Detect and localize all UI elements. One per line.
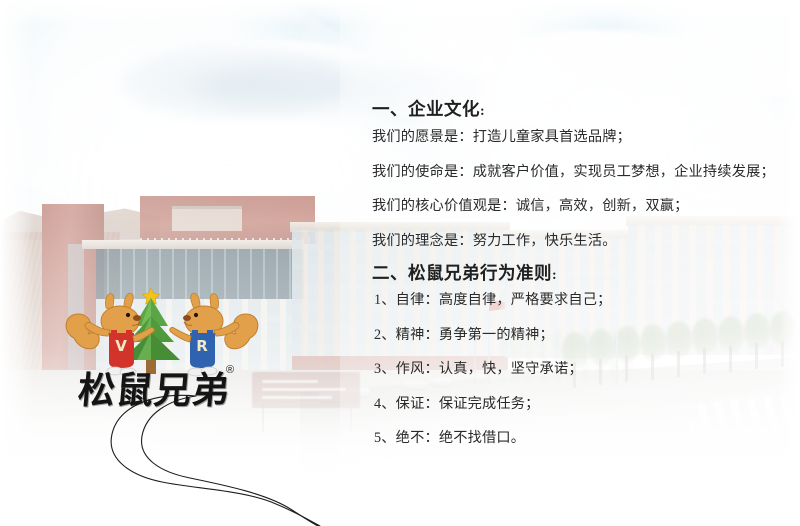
- tree-icon: [718, 316, 744, 372]
- tree-icon: [770, 311, 796, 367]
- street-light-pole-icon: [616, 300, 618, 382]
- section-2-heading-text: 二、松鼠兄弟行为准则: [372, 263, 552, 283]
- section-1-heading-text: 一、企业文化: [372, 99, 480, 119]
- tree-icon: [744, 313, 770, 369]
- brand-wordmark-text: 松鼠兄弟: [76, 370, 232, 414]
- section-2-heading: 二、松鼠兄弟行为准则:: [372, 260, 557, 285]
- section-2-line: 4、保证：保证完成任务；: [374, 393, 612, 413]
- section-1-line: 我们的使命是：成就客户价值，实现员工梦想，企业持续发展；: [372, 161, 775, 181]
- section-1-line: 我们的理念是：努力工作，快乐生活。: [372, 230, 775, 250]
- svg-text:V: V: [115, 337, 127, 355]
- section-2-line: 1、自律：高度自律，严格要求自己；: [374, 289, 612, 309]
- section-1-heading: 一、企业文化:: [372, 96, 485, 121]
- section-1-line: 我们的核心价值观是：诚信，高效，创新，双赢；: [372, 195, 775, 215]
- sign-post-icon: [350, 404, 352, 432]
- section-2-lines: 1、自律：高度自律，严格要求自己； 2、精神：勇争第一的精神； 3、作风：认真，…: [374, 289, 612, 462]
- section-1-heading-colon: :: [480, 104, 485, 119]
- squirrel-left-icon: V: [66, 293, 154, 376]
- building-cornice-icon: [82, 240, 304, 249]
- section-2-line: 3、作风：认真，快，坚守承诺；: [374, 358, 612, 378]
- tree-icon: [666, 321, 692, 377]
- registered-trademark-icon: ®: [226, 364, 234, 376]
- section-1-lines: 我们的愿景是：打造儿童家具首选品牌； 我们的使命是：成就客户价值，实现员工梦想，…: [372, 126, 775, 264]
- signboard-icon: [252, 372, 360, 408]
- tree-icon: [692, 318, 718, 374]
- section-1-line: 我们的愿景是：打造儿童家具首选品牌；: [372, 126, 775, 146]
- section-2-heading-colon: :: [552, 268, 557, 283]
- section-2-line: 5、绝不：绝不找借口。: [374, 427, 612, 447]
- tree-icon: [640, 324, 666, 380]
- svg-text:R: R: [196, 337, 208, 355]
- poster-page: V: [0, 0, 800, 526]
- squirrel-right-icon: R: [170, 293, 258, 376]
- brand-logo[interactable]: V: [62, 286, 262, 418]
- brand-wordmark: 松鼠兄弟 ®: [78, 370, 264, 418]
- section-2-line: 2、精神：勇争第一的精神；: [374, 324, 612, 344]
